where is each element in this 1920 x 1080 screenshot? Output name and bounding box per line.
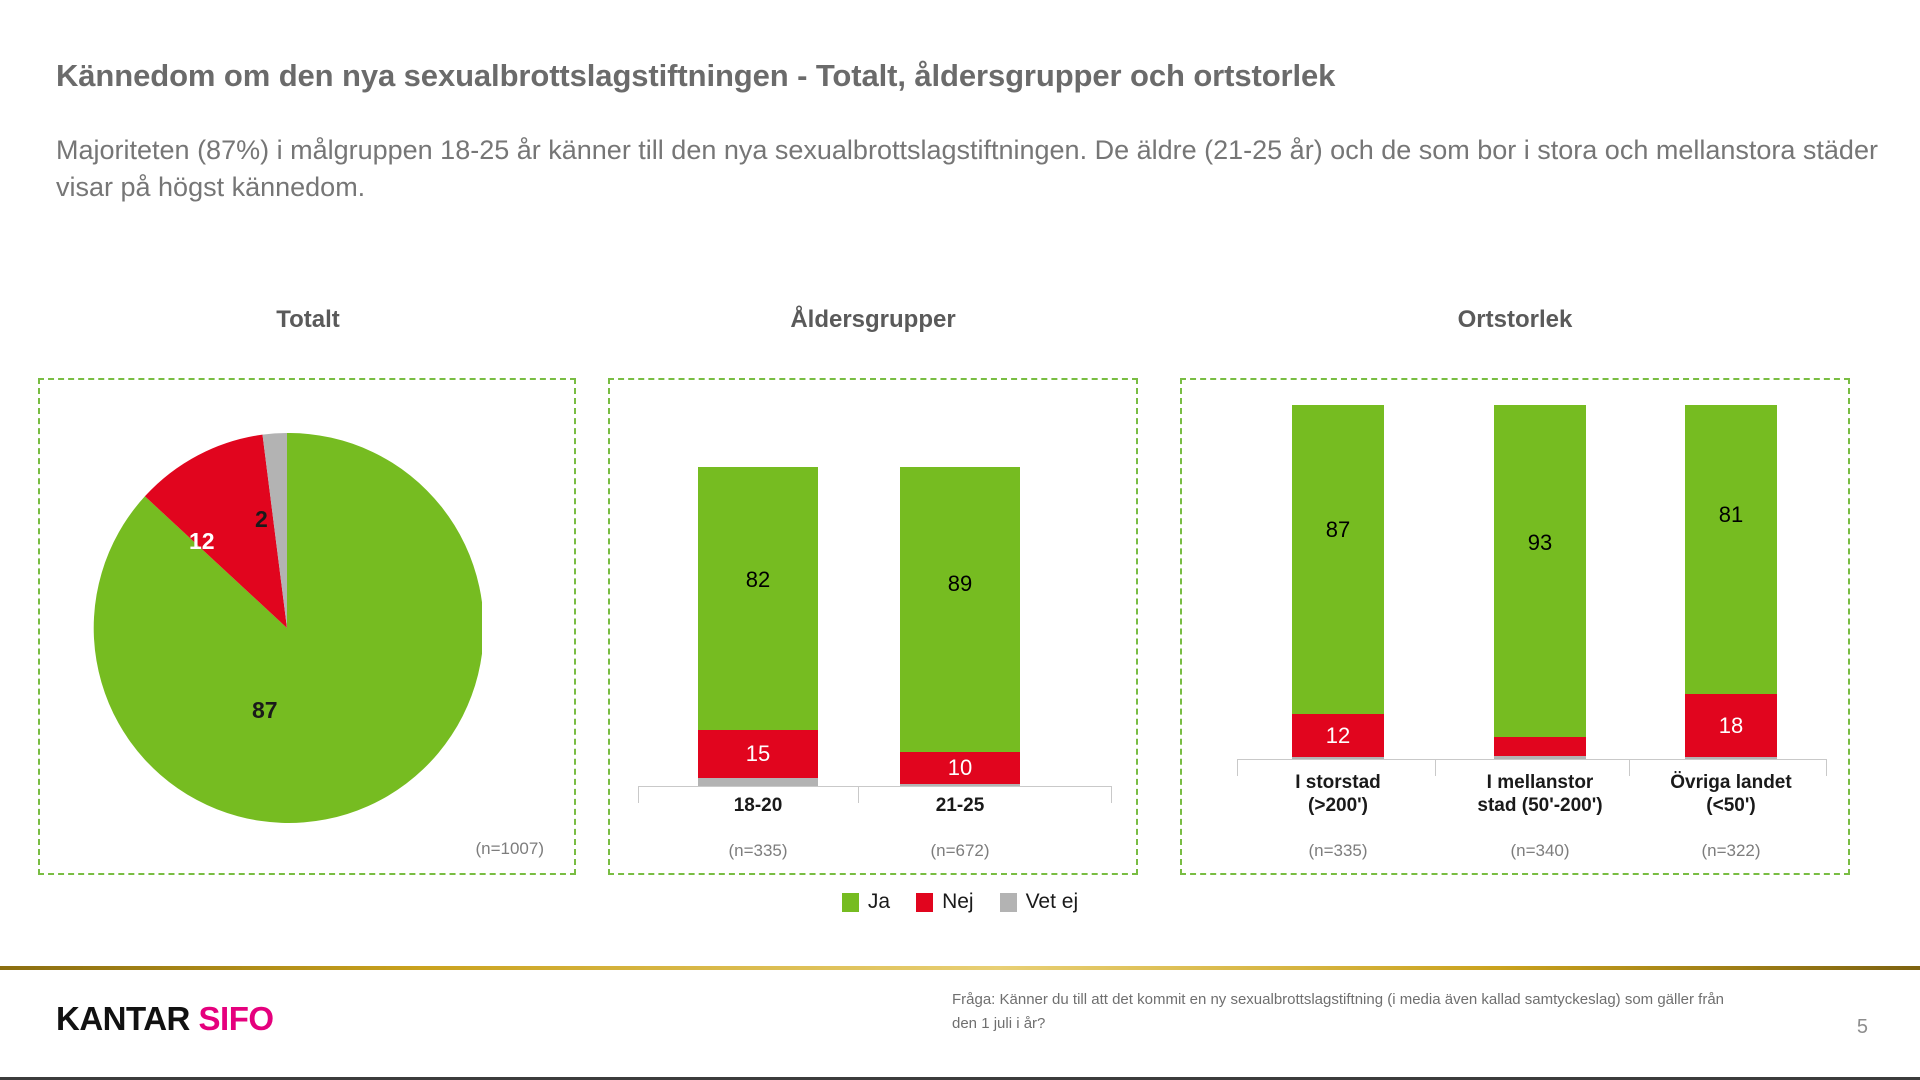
pie-chart-totalt: 87 12 2 (92, 433, 482, 823)
bar-group-ovriga: 18 81 (1685, 405, 1777, 760)
category-label-storstad-line1: I storstad (1268, 771, 1408, 795)
footer-question-text: Fråga: Känner du till att det kommit en … (952, 988, 1742, 1037)
bar-segment-nej-21-25: 10 (900, 752, 1020, 784)
pie-svg (92, 433, 482, 823)
bar-label-nej-21-25: 10 (948, 755, 972, 781)
panel-totalt: 87 12 2 (n=1007) (38, 378, 576, 875)
category-label-storstad-line2: (>200') (1268, 794, 1408, 818)
sample-size-18-20: (n=335) (688, 841, 828, 861)
sample-size-21-25: (n=672) (890, 841, 1030, 861)
legend-label-ja: Ja (868, 890, 890, 914)
panel-ortstorlek: 12 87 93 18 81 I storstad (>200') I mell… (1180, 378, 1850, 875)
x-axis-tick-4 (1826, 759, 1827, 776)
legend-item-nej: Nej (916, 890, 974, 914)
brand-logo-sifo: SIFO (199, 1000, 274, 1037)
legend-item-vetej: Vet ej (1000, 890, 1079, 914)
bar-label-nej-ovriga: 18 (1719, 713, 1743, 739)
x-axis-tick-mid (858, 786, 859, 803)
bar-label-ja-21-25: 89 (948, 571, 972, 597)
panel-title-totalt: Totalt (38, 306, 578, 334)
bar-segment-ja-mellanstor: 93 (1494, 405, 1586, 737)
x-axis-ortstorlek (1237, 759, 1827, 760)
x-axis-tick-3 (1629, 759, 1630, 776)
bar-group-mellanstor: 93 (1494, 405, 1586, 760)
sample-size-ovriga: (n=322) (1661, 841, 1801, 861)
pie-label-ja: 87 (252, 697, 278, 724)
bar-group-18-20: 15 82 (698, 467, 818, 787)
bar-segment-ja-18-20: 82 (698, 467, 818, 730)
brand-logo: KANTAR SIFO (56, 1000, 274, 1038)
category-label-mellanstor: I mellanstor stad (50'-200') (1460, 771, 1620, 819)
x-axis-aldersgrupper (638, 786, 1112, 787)
category-label-21-25: 21-25 (900, 794, 1020, 818)
bar-label-ja-ovriga: 81 (1719, 502, 1743, 528)
sample-size-storstad: (n=335) (1268, 841, 1408, 861)
x-axis-tick-2 (1435, 759, 1436, 776)
x-axis-tick-1 (1237, 759, 1238, 776)
page-number: 5 (1857, 1016, 1868, 1039)
legend-label-vetej: Vet ej (1026, 890, 1079, 914)
bar-group-21-25: 10 89 (900, 467, 1020, 787)
bar-label-ja-18-20: 82 (746, 567, 770, 593)
bar-segment-ja-21-25: 89 (900, 467, 1020, 752)
footer-gold-divider (0, 966, 1920, 970)
bar-label-nej-18-20: 15 (746, 741, 770, 767)
sample-size-mellanstor: (n=340) (1470, 841, 1610, 861)
category-label-mellanstor-line2: stad (50'-200') (1460, 794, 1620, 818)
pie-label-nej: 12 (189, 528, 215, 555)
bar-label-nej-storstad: 12 (1326, 723, 1350, 749)
page-title: Kännedom om den nya sexualbrottslagstift… (56, 58, 1335, 94)
category-label-ovriga-line2: (<50') (1661, 794, 1801, 818)
brand-logo-kantar: KANTAR (56, 1000, 190, 1037)
category-label-18-20: 18-20 (698, 794, 818, 818)
bar-segment-nej-18-20: 15 (698, 730, 818, 778)
page-subtitle: Majoriteten (87%) i målgruppen 18-25 år … (56, 132, 1886, 207)
legend-swatch-vetej-icon (1000, 893, 1017, 912)
legend-swatch-nej-icon (916, 893, 933, 912)
legend-label-nej: Nej (942, 890, 974, 914)
panel-title-aldersgrupper: Åldersgrupper (608, 306, 1138, 334)
legend-swatch-ja-icon (842, 893, 859, 912)
bar-segment-nej-mellanstor (1494, 737, 1586, 756)
category-label-mellanstor-line1: I mellanstor (1460, 771, 1620, 795)
panel-title-ortstorlek: Ortstorlek (1180, 306, 1850, 334)
x-axis-tick-right (1111, 786, 1112, 803)
category-label-ovriga: Övriga landet (<50') (1661, 771, 1801, 819)
bar-group-storstad: 12 87 (1292, 405, 1384, 760)
bar-label-ja-mellanstor: 93 (1528, 530, 1552, 556)
panel-aldersgrupper: 15 82 10 89 18-20 21-25 (n=335) (n=672) (608, 378, 1138, 875)
chart-legend: Ja Nej Vet ej (0, 890, 1920, 914)
legend-item-ja: Ja (842, 890, 890, 914)
bar-segment-nej-ovriga: 18 (1685, 694, 1777, 757)
bar-segment-nej-storstad: 12 (1292, 714, 1384, 757)
bar-label-ja-storstad: 87 (1326, 517, 1350, 543)
bar-segment-ja-ovriga: 81 (1685, 405, 1777, 694)
category-label-ovriga-line1: Övriga landet (1661, 771, 1801, 795)
sample-size-totalt: (n=1007) (475, 839, 544, 859)
pie-label-vetej: 2 (255, 506, 268, 533)
category-label-storstad: I storstad (>200') (1268, 771, 1408, 819)
bar-segment-ja-storstad: 87 (1292, 405, 1384, 714)
x-axis-tick-left (638, 786, 639, 803)
